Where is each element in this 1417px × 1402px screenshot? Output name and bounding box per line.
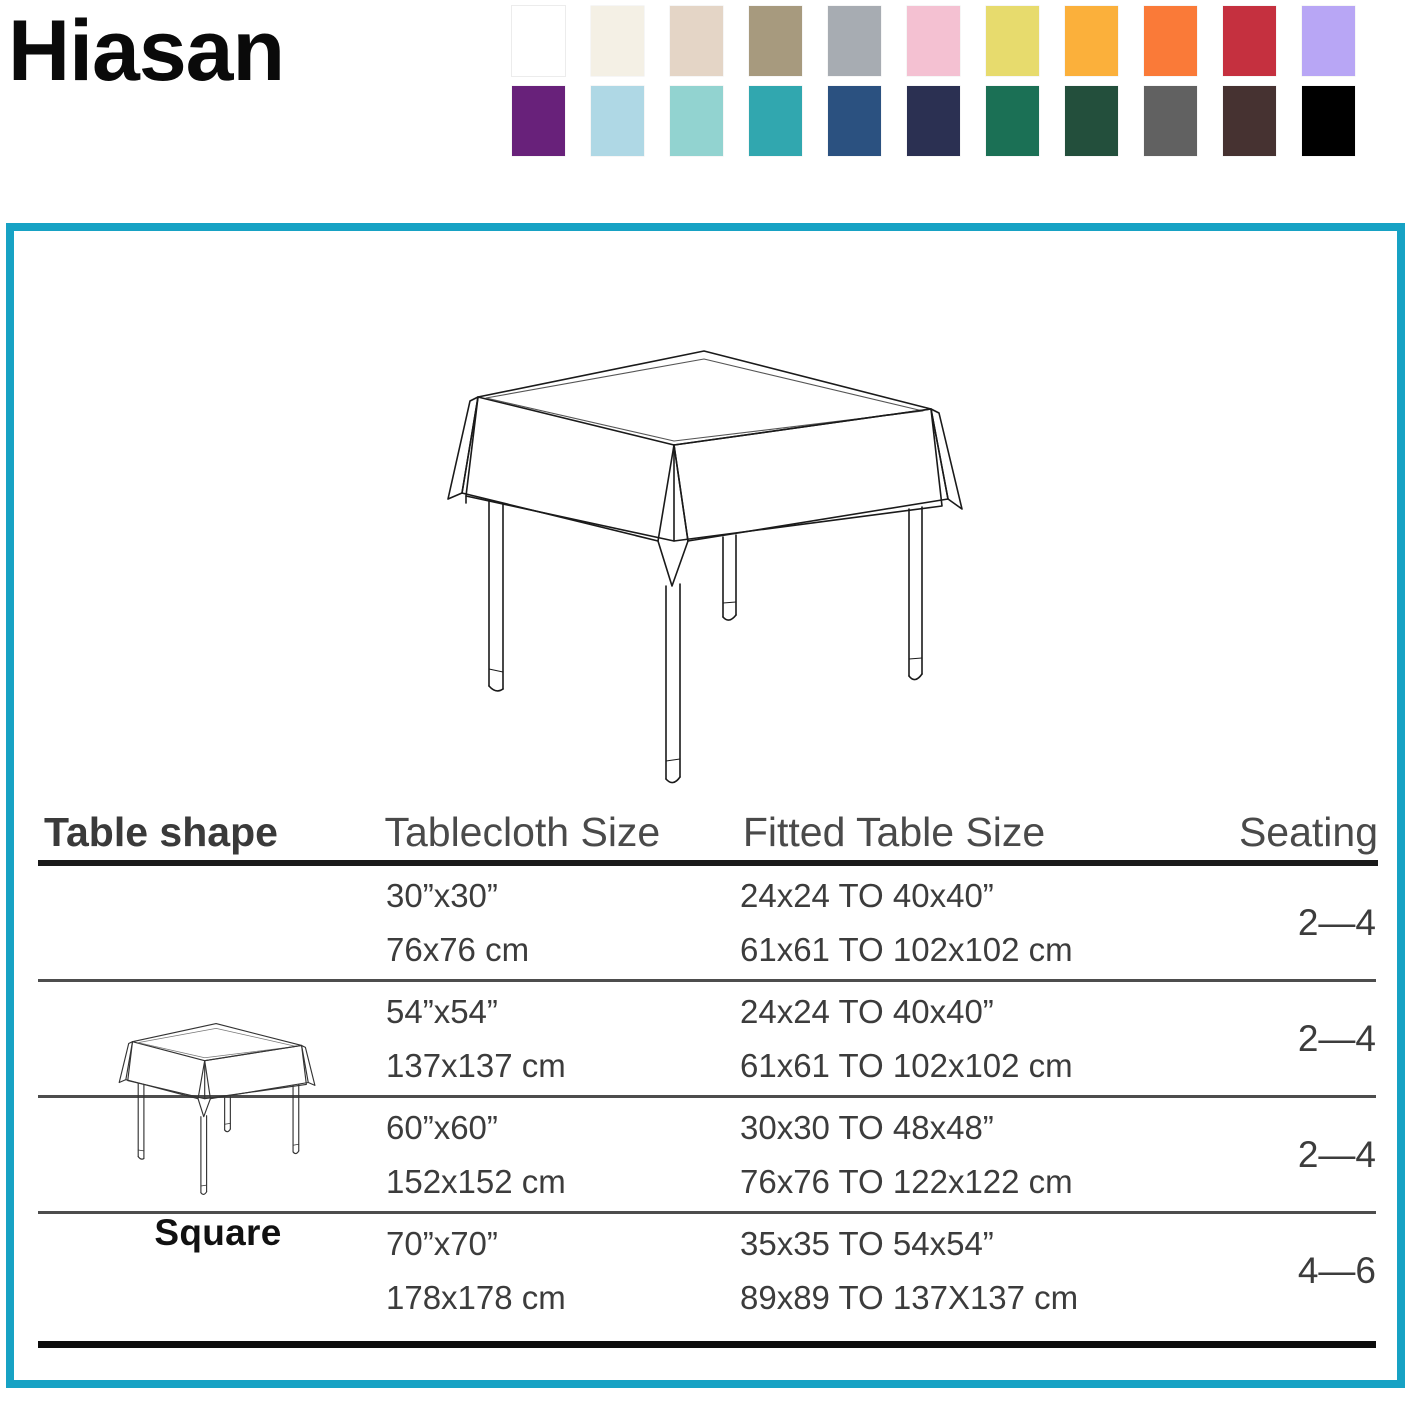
- cloth-size-cm: 178x178 cm: [386, 1271, 740, 1324]
- cell-seating: 2—4: [1208, 866, 1378, 979]
- color-swatch-purple[interactable]: [512, 86, 565, 156]
- cell-fitted-table-size: 30x30 TO 48x48” 76x76 TO 122x122 cm: [740, 1098, 1208, 1211]
- color-swatch-brown[interactable]: [1223, 86, 1276, 156]
- cell-seating: 4—6: [1208, 1214, 1378, 1327]
- cell-seating: 2—4: [1208, 1098, 1378, 1211]
- table-header-row: Table shape Tablecloth Size Fitted Table…: [38, 811, 1378, 858]
- color-swatch-taupe[interactable]: [749, 6, 802, 76]
- color-swatch-pink[interactable]: [907, 6, 960, 76]
- row-shape-spacer: [38, 1214, 380, 1327]
- row-shape-spacer: [38, 1098, 380, 1211]
- column-header-seating: Seating: [1209, 811, 1378, 854]
- row-shape-spacer: [38, 866, 380, 979]
- seating-value: 2—4: [1298, 1018, 1378, 1060]
- page-header: Hiasan: [0, 0, 1417, 200]
- brand-logo: Hiasan: [8, 8, 284, 94]
- color-swatch-gray[interactable]: [828, 6, 881, 76]
- cloth-size-cm: 137x137 cm: [386, 1039, 740, 1092]
- table-row: 70”x70” 178x178 cm 35x35 TO 54x54” 89x89…: [38, 1214, 1378, 1327]
- color-swatch-lavender[interactable]: [1302, 6, 1355, 76]
- fitted-size-inches: 35x35 TO 54x54”: [740, 1217, 1208, 1270]
- color-swatch-dark-gray[interactable]: [1144, 86, 1197, 156]
- seating-value: 2—4: [1298, 1134, 1378, 1176]
- color-swatch-amber[interactable]: [1065, 6, 1118, 76]
- color-swatch-grid: [512, 6, 1412, 166]
- table-row: 60”x60” 152x152 cm 30x30 TO 48x48” 76x76…: [38, 1098, 1378, 1211]
- table-row: 54”x54” 137x137 cm 24x24 TO 40x40” 61x61…: [38, 982, 1378, 1095]
- cell-fitted-table-size: 35x35 TO 54x54” 89x89 TO 137X137 cm: [740, 1214, 1208, 1327]
- fitted-size-inches: 30x30 TO 48x48”: [740, 1101, 1208, 1154]
- column-header-table-shape: Table shape: [38, 811, 384, 854]
- cell-fitted-table-size: 24x24 TO 40x40” 61x61 TO 102x102 cm: [740, 982, 1208, 1095]
- fitted-size-inches: 24x24 TO 40x40”: [740, 985, 1208, 1038]
- column-header-tablecloth-size: Tablecloth Size: [384, 811, 742, 854]
- cell-seating: 2—4: [1208, 982, 1378, 1095]
- color-swatch-navy[interactable]: [907, 86, 960, 156]
- color-swatch-row-2: [512, 86, 1412, 156]
- size-guide-panel: Table shape Tablecloth Size Fitted Table…: [6, 223, 1405, 1388]
- fitted-size-cm: 89x89 TO 137X137 cm: [740, 1271, 1208, 1324]
- cell-fitted-table-size: 24x24 TO 40x40” 61x61 TO 102x102 cm: [740, 866, 1208, 979]
- cloth-size-cm: 152x152 cm: [386, 1155, 740, 1208]
- color-swatch-row-1: [512, 6, 1412, 76]
- color-swatch-blue[interactable]: [828, 86, 881, 156]
- seating-value: 2—4: [1298, 902, 1378, 944]
- table-row: 30”x30” 76x76 cm 24x24 TO 40x40” 61x61 T…: [38, 866, 1378, 979]
- color-swatch-yellow[interactable]: [986, 6, 1039, 76]
- color-swatch-white[interactable]: [512, 6, 565, 76]
- color-swatch-teal[interactable]: [749, 86, 802, 156]
- cloth-size-inches: 30”x30”: [386, 869, 740, 922]
- size-spec-table: Table shape Tablecloth Size Fitted Table…: [38, 811, 1378, 1348]
- color-swatch-black[interactable]: [1302, 86, 1355, 156]
- color-swatch-green[interactable]: [986, 86, 1039, 156]
- fitted-size-inches: 24x24 TO 40x40”: [740, 869, 1208, 922]
- cloth-size-inches: 54”x54”: [386, 985, 740, 1038]
- color-swatch-red[interactable]: [1223, 6, 1276, 76]
- color-swatch-orange[interactable]: [1144, 6, 1197, 76]
- cell-tablecloth-size: 30”x30” 76x76 cm: [380, 866, 740, 979]
- fitted-size-cm: 61x61 TO 102x102 cm: [740, 923, 1208, 976]
- table-bottom-divider: [38, 1341, 1376, 1348]
- color-swatch-beige[interactable]: [670, 6, 723, 76]
- cell-tablecloth-size: 70”x70” 178x178 cm: [380, 1214, 740, 1327]
- color-swatch-light-blue[interactable]: [591, 86, 644, 156]
- square-table-with-tablecloth-illustration: [426, 341, 986, 801]
- cloth-size-inches: 70”x70”: [386, 1217, 740, 1270]
- fitted-size-cm: 61x61 TO 102x102 cm: [740, 1039, 1208, 1092]
- color-swatch-cream[interactable]: [591, 6, 644, 76]
- table-body: Square 30”x30” 76x76 cm 24x24 TO 40x40” …: [38, 866, 1378, 1348]
- seating-value: 4—6: [1298, 1250, 1378, 1292]
- color-swatch-dark-green[interactable]: [1065, 86, 1118, 156]
- fitted-size-cm: 76x76 TO 122x122 cm: [740, 1155, 1208, 1208]
- column-header-fitted-table-size: Fitted Table Size: [743, 811, 1209, 854]
- row-shape-spacer: [38, 982, 380, 1095]
- cloth-size-inches: 60”x60”: [386, 1101, 740, 1154]
- color-swatch-aqua[interactable]: [670, 86, 723, 156]
- cell-tablecloth-size: 54”x54” 137x137 cm: [380, 982, 740, 1095]
- cell-tablecloth-size: 60”x60” 152x152 cm: [380, 1098, 740, 1211]
- cloth-size-cm: 76x76 cm: [386, 923, 740, 976]
